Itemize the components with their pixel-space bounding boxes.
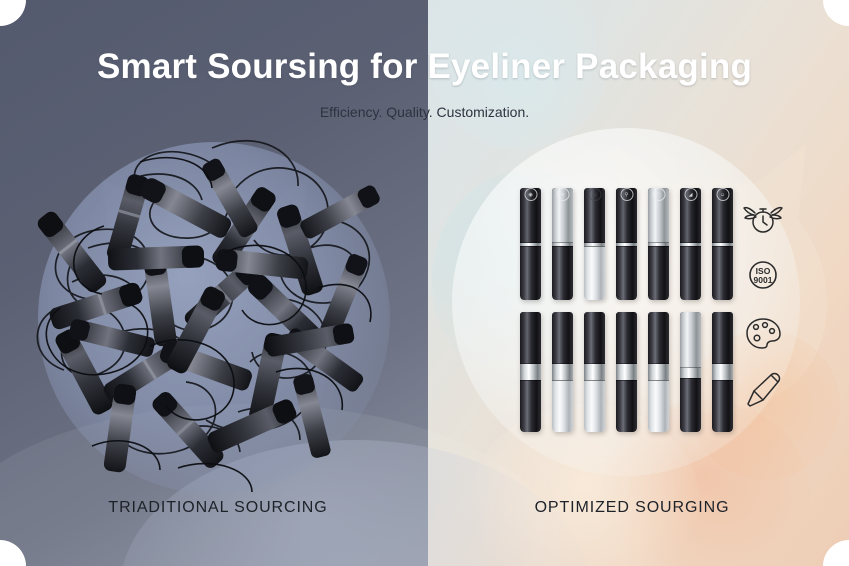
feature-badge-column: ISO 9001 Fast delivery ISO certification… (741, 196, 785, 424)
tube-emblem: ⚲ (620, 188, 633, 201)
tube-emblem: ❊ (556, 188, 569, 201)
brush-pen-icon[interactable] (741, 367, 785, 411)
tube-top-5[interactable]: ▢ (648, 188, 669, 300)
tube-bottom-3[interactable] (584, 312, 605, 432)
poster-canvas: ◉ ❊ ▣ ⚲ ▢ ◢ (0, 0, 849, 566)
iso-9001-icon[interactable]: ISO 9001 (741, 253, 785, 297)
tube-top-4[interactable]: ⚲ (616, 188, 637, 300)
tube-emblem: ◢ (684, 188, 697, 201)
tube-top-1[interactable]: ◉ (520, 188, 541, 300)
tube-bottom-4[interactable] (616, 312, 637, 432)
tube-emblem: ☺ (716, 188, 729, 201)
tube-top-3[interactable]: ▣ (584, 188, 605, 300)
tube-emblem: ◉ (524, 188, 537, 201)
tube-bottom-2[interactable] (552, 312, 573, 432)
left-panel-label: TRIADITIONAL SOURCING (58, 499, 378, 517)
page-subtitle: Efficiency. Quality. Customization. (0, 104, 849, 120)
tube-emblem: ▢ (652, 188, 665, 201)
tube-bottom-1[interactable] (520, 312, 541, 432)
tube-emblem: ▣ (588, 188, 601, 201)
tube-top-7[interactable]: ☺ (712, 188, 733, 300)
tube-bottom-6[interactable] (680, 312, 701, 432)
tube-bottom-5[interactable] (648, 312, 669, 432)
iso-line-2: 9001 (754, 275, 773, 285)
paint-palette-icon[interactable] (741, 310, 785, 354)
right-panel-label: OPTIMIZED SOURGING (472, 499, 792, 517)
page-title: Smart Soursing for Eyeliner Packaging (0, 47, 849, 87)
tube-bottom-7[interactable] (712, 312, 733, 432)
tube-top-2[interactable]: ❊ (552, 188, 573, 300)
tube-top-6[interactable]: ◢ (680, 188, 701, 300)
winged-stopwatch-icon[interactable] (741, 196, 785, 240)
